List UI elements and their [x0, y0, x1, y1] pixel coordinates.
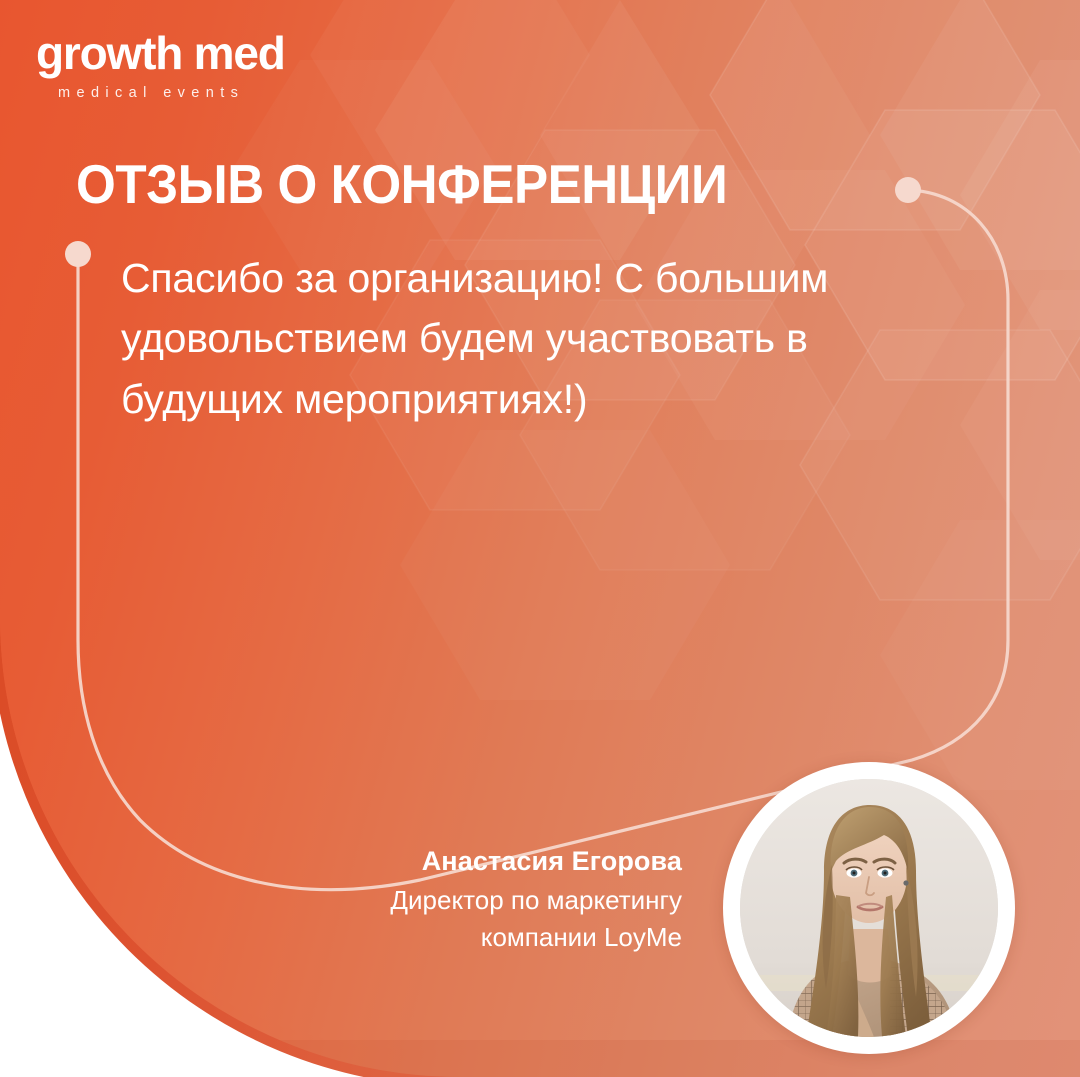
- author-name: Анастасия Егорова: [242, 843, 682, 879]
- bottom-band: [0, 1040, 1080, 1077]
- testimonial-card: growth med medical events ОТЗЫВ О КОНФЕР…: [0, 0, 1080, 1077]
- page-title: ОТЗЫВ О КОНФЕРЕНЦИИ: [76, 152, 727, 216]
- author-company: компании LoyMe: [242, 919, 682, 956]
- testimonial-quote: Спасибо за организацию! С большим удовол…: [121, 248, 961, 429]
- avatar-photo: [740, 779, 998, 1037]
- testimonial-attribution: Анастасия Егорова Директор по маркетингу…: [242, 843, 682, 956]
- brand-logo-main: growth med: [36, 30, 356, 76]
- brand-logo-tagline: medical events: [58, 85, 356, 101]
- avatar: [723, 762, 1015, 1054]
- brand-logo: growth med medical events: [36, 30, 356, 101]
- author-role: Директор по маркетингу: [242, 882, 682, 919]
